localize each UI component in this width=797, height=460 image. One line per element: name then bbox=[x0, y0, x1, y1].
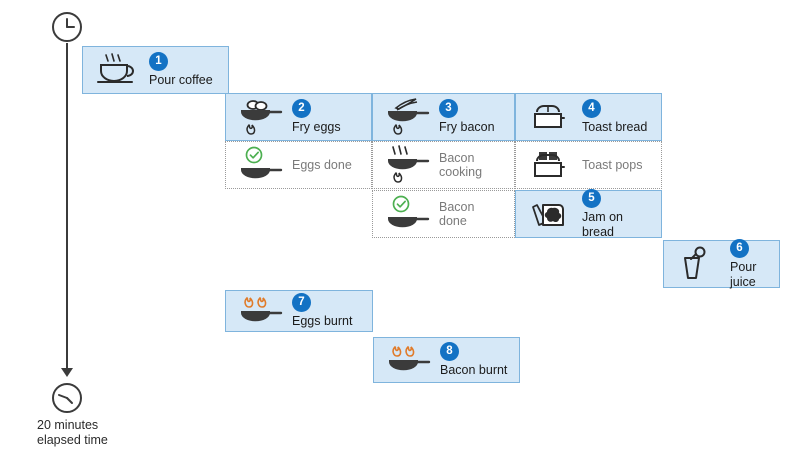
step-body: 3 Fry bacon bbox=[433, 99, 508, 135]
frying-pan-burnt-icon bbox=[234, 290, 286, 332]
step-label: Eggs burnt bbox=[292, 314, 366, 329]
step-body: 5 Jam on bread bbox=[576, 189, 655, 239]
step-eggs-burnt[interactable]: 7 Eggs burnt bbox=[225, 290, 373, 332]
status-body: Bacon cooking bbox=[433, 151, 508, 180]
timeline-diagram: 20 minutes elapsed time 1 Pour coffee bbox=[0, 0, 797, 460]
status-label: Bacon cooking bbox=[439, 151, 508, 180]
step-fry-eggs[interactable]: 2 Fry eggs bbox=[225, 93, 372, 141]
step-body: 2 Fry eggs bbox=[286, 99, 365, 135]
step-label: Pour coffee bbox=[149, 73, 222, 88]
step-label: Toast bread bbox=[582, 120, 655, 135]
step-body: 1 Pour coffee bbox=[143, 52, 222, 88]
step-toast-bread[interactable]: 4 Toast bread bbox=[515, 93, 662, 141]
step-bacon-burnt[interactable]: 8 Bacon burnt bbox=[373, 337, 520, 383]
status-body: Toast pops bbox=[576, 158, 655, 173]
clock-icon bbox=[52, 12, 82, 42]
step-body: 8 Bacon burnt bbox=[434, 342, 513, 378]
elapsed-time-label: 20 minutes elapsed time bbox=[37, 418, 108, 448]
step-label: Fry eggs bbox=[292, 120, 365, 135]
step-body: 4 Toast bread bbox=[576, 99, 655, 135]
check-circle-pan-icon bbox=[381, 193, 433, 235]
step-body: 6 Pour juice bbox=[724, 239, 773, 289]
status-bacon-done: Bacon done bbox=[372, 190, 515, 238]
step-fry-bacon[interactable]: 3 Fry bacon bbox=[372, 93, 515, 141]
frying-pan-bacon-flame-icon bbox=[381, 96, 433, 138]
check-circle-pan-icon bbox=[234, 144, 286, 186]
step-badge: 5 bbox=[582, 189, 601, 208]
clock-elapsed-icon bbox=[52, 383, 82, 413]
step-label: Bacon burnt bbox=[440, 363, 513, 378]
elapsed-time-line1: 20 minutes bbox=[37, 418, 108, 433]
status-bacon-cooking: Bacon cooking bbox=[372, 141, 515, 189]
step-jam-on-bread[interactable]: 5 Jam on bread bbox=[515, 190, 662, 238]
elapsed-time-line2: elapsed time bbox=[37, 433, 108, 448]
coffee-cup-icon bbox=[91, 49, 143, 91]
frying-pan-eggs-flame-icon bbox=[234, 96, 286, 138]
step-pour-coffee[interactable]: 1 Pour coffee bbox=[82, 46, 229, 94]
status-body: Bacon done bbox=[433, 200, 508, 229]
step-label: Fry bacon bbox=[439, 120, 508, 135]
step-badge: 1 bbox=[149, 52, 168, 71]
step-body: 7 Eggs burnt bbox=[286, 293, 366, 329]
step-label: Jam on bread bbox=[582, 210, 655, 239]
juice-glass-icon bbox=[672, 243, 724, 285]
status-toast-pops: Toast pops bbox=[515, 141, 662, 189]
toaster-popped-icon bbox=[524, 144, 576, 186]
status-label: Eggs done bbox=[292, 158, 365, 173]
status-label: Toast pops bbox=[582, 158, 655, 173]
status-label: Bacon done bbox=[439, 200, 508, 229]
timeline-axis bbox=[66, 43, 68, 375]
toaster-icon bbox=[524, 96, 576, 138]
step-badge: 7 bbox=[292, 293, 311, 312]
step-badge: 4 bbox=[582, 99, 601, 118]
step-badge: 2 bbox=[292, 99, 311, 118]
jam-on-bread-icon bbox=[524, 193, 576, 235]
timeline-arrowhead bbox=[61, 368, 73, 377]
status-eggs-done: Eggs done bbox=[225, 141, 372, 189]
step-badge: 6 bbox=[730, 239, 749, 258]
step-label: Pour juice bbox=[730, 260, 773, 289]
step-pour-juice[interactable]: 6 Pour juice bbox=[663, 240, 780, 288]
status-body: Eggs done bbox=[286, 158, 365, 173]
frying-pan-burnt-icon bbox=[382, 339, 434, 381]
pan-steam-flame-icon bbox=[381, 144, 433, 186]
step-badge: 3 bbox=[439, 99, 458, 118]
step-badge: 8 bbox=[440, 342, 459, 361]
